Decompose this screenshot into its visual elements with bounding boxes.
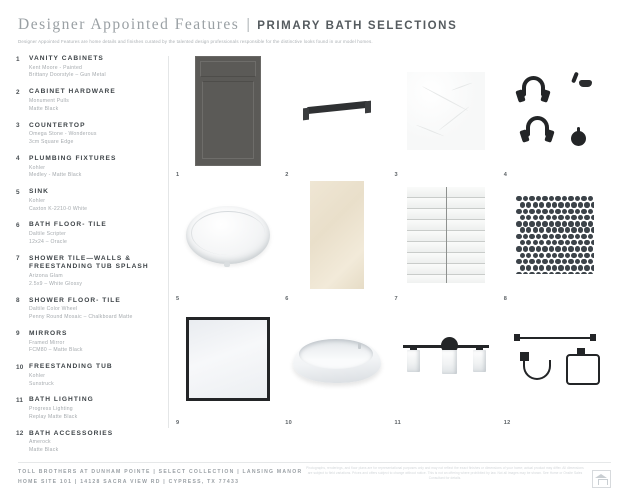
item-detail-2: Matte Black: [29, 106, 156, 112]
product-number: 3: [395, 172, 398, 178]
product-cell-countertop: 3: [395, 56, 504, 180]
product-number: 5: [176, 296, 179, 302]
shower-valve-icon: [571, 131, 586, 146]
product-cell-plumbing: 4: [504, 56, 613, 180]
item-title: CABINET HARDWARE: [29, 88, 156, 97]
item-detail-1: Kohler: [29, 373, 156, 379]
item-detail-2: FCM80 – Matte Black: [29, 347, 156, 353]
list-item: 7 SHOWER TILE—WALLS & FREESTANDING TUB S…: [16, 255, 156, 287]
item-title: MIRRORS: [29, 330, 156, 339]
item-detail-1: Kent Moore - Painted: [29, 65, 156, 71]
toilet-paper-holder-icon: [520, 352, 550, 380]
product-row: 5 6 7 8: [176, 180, 613, 304]
item-title: BATH FLOOR- TILE: [29, 221, 156, 230]
item-detail-2: Brittany Doorstyle – Gun Metal: [29, 72, 156, 78]
item-detail-1: Monument Pulls: [29, 98, 156, 104]
item-detail-1: Daltile Scripter: [29, 231, 156, 237]
item-detail-2: Sunstruck: [29, 381, 156, 387]
community-line-2: HOME SITE 101 | 14128 SACRA VIEW RD | CY…: [18, 478, 302, 488]
list-item: 11 BATH LIGHTING Progress Lighting Repla…: [16, 396, 156, 420]
item-detail-1: Kohler: [29, 165, 156, 171]
item-detail-2: 3cm Square Edge: [29, 139, 156, 145]
cabinet-pull-image: [285, 58, 388, 164]
list-item: 3 COUNTERTOP Omega Stone - Wonderous 3cm…: [16, 122, 156, 146]
community-info: TOLL BROTHERS AT DUNHAM POINTE | SELECT …: [18, 468, 302, 487]
list-item: 2 CABINET HARDWARE Monument Pulls Matte …: [16, 88, 156, 112]
list-item: 4 PLUMBING FIXTURES Kohler Medley - Matt…: [16, 155, 156, 179]
item-title: SHOWER TILE—WALLS & FREESTANDING TUB SPL…: [29, 255, 156, 272]
item-number: 12: [16, 430, 29, 454]
product-number: 9: [176, 420, 179, 426]
product-number: 6: [285, 296, 288, 302]
item-detail-2: 2.5x9 – White Glossy: [29, 281, 156, 287]
item-detail-2: Caxton K-2210-0 White: [29, 206, 156, 212]
product-number: 1: [176, 172, 179, 178]
item-number: 10: [16, 363, 29, 387]
item-title: BATH ACCESSORIES: [29, 430, 156, 439]
title-secondary: PRIMARY BATH SELECTIONS: [257, 20, 457, 32]
item-number: 7: [16, 255, 29, 287]
equal-housing-icon: [592, 470, 611, 488]
item-detail-2: Replay Matte Black: [29, 414, 156, 420]
list-item: 5 SINK Kohler Caxton K-2210-0 White: [16, 188, 156, 212]
item-title: VANITY CABINETS: [29, 55, 156, 64]
item-number: 6: [16, 221, 29, 245]
item-detail-1: Framed Mirror: [29, 340, 156, 346]
item-detail-2: 12x24 – Oracle: [29, 239, 156, 245]
plumbing-fixtures-image: [504, 58, 607, 164]
legal-disclaimer: Photographs, renderings, and floor plans…: [305, 466, 585, 482]
list-item: 8 SHOWER FLOOR- TILE Daltile Color Wheel…: [16, 297, 156, 321]
framed-mirror-image: [176, 306, 279, 412]
item-number: 9: [16, 330, 29, 354]
product-number: 12: [504, 420, 511, 426]
product-row: 1 2 3: [176, 56, 613, 180]
item-number: 4: [16, 155, 29, 179]
item-number: 5: [16, 188, 29, 212]
product-cell-shower-floor-tile: 8: [504, 180, 613, 304]
shower-wall-tile-image: [395, 182, 498, 288]
towel-bar-icon: [514, 334, 596, 341]
item-title: COUNTERTOP: [29, 122, 156, 131]
selections-sheet: Designer Appointed Features | PRIMARY BA…: [0, 0, 621, 480]
product-cell-accessories: 12: [504, 304, 613, 428]
product-cell-lighting: 11: [395, 304, 504, 428]
item-title: SINK: [29, 188, 156, 197]
towel-ring-icon: [566, 348, 596, 382]
item-title: FREESTANDING TUB: [29, 363, 156, 372]
list-item: 9 MIRRORS Framed Mirror FCM80 – Matte Bl…: [16, 330, 156, 354]
list-item: 12 BATH ACCESSORIES Amerock Matte Black: [16, 430, 156, 454]
product-cell-shower-wall-tile: 7: [395, 180, 504, 304]
page-header: Designer Appointed Features | PRIMARY BA…: [18, 16, 609, 44]
title-primary: Designer Appointed Features: [18, 16, 239, 34]
item-title: BATH LIGHTING: [29, 396, 156, 405]
item-title: SHOWER FLOOR- TILE: [29, 297, 156, 306]
undermount-sink-image: [176, 182, 279, 288]
product-number: 4: [504, 172, 507, 178]
product-cell-mirror: 9: [176, 304, 285, 428]
countertop-marble-image: [395, 58, 498, 164]
vertical-divider: [168, 56, 169, 428]
vanity-light-image: [395, 306, 498, 412]
item-number: 8: [16, 297, 29, 321]
product-number: 2: [285, 172, 288, 178]
item-detail-2: Penny Round Mosaic – Chalkboard Matte: [29, 314, 156, 320]
bath-floor-tile-image: [285, 182, 388, 288]
product-cell-bath-floor-tile: 6: [285, 180, 394, 304]
item-detail-1: Amerock: [29, 439, 156, 445]
product-cell-tub: 10: [285, 304, 394, 428]
product-row: 9 10 11: [176, 304, 613, 428]
cabinet-door-image: [176, 58, 279, 164]
item-detail-2: Matte Black: [29, 447, 156, 453]
item-detail-1: Daltile Color Wheel: [29, 306, 156, 312]
community-line-1: TOLL BROTHERS AT DUNHAM POINTE | SELECT …: [18, 468, 302, 478]
product-number: 10: [285, 420, 292, 426]
item-number: 3: [16, 122, 29, 146]
bath-accessories-image: [504, 306, 607, 412]
footer-divider: [18, 462, 611, 463]
product-number: 7: [395, 296, 398, 302]
product-number: 8: [504, 296, 507, 302]
selections-list: 1 VANITY CABINETS Kent Moore - Painted B…: [16, 55, 156, 463]
list-item: 6 BATH FLOOR- TILE Daltile Scripter 12x2…: [16, 221, 156, 245]
list-item: 10 FREESTANDING TUB Kohler Sunstruck: [16, 363, 156, 387]
page-title: Designer Appointed Features | PRIMARY BA…: [18, 16, 609, 34]
shower-head-icon: [572, 72, 592, 88]
freestanding-tub-image: [285, 306, 388, 412]
item-number: 2: [16, 88, 29, 112]
item-number: 1: [16, 55, 29, 79]
product-cell-cabinet: 1: [176, 56, 285, 180]
product-cell-sink: 5: [176, 180, 285, 304]
product-number: 11: [395, 420, 402, 426]
item-number: 11: [16, 396, 29, 420]
item-title: PLUMBING FIXTURES: [29, 155, 156, 164]
item-detail-1: Kohler: [29, 198, 156, 204]
item-detail-1: Progress Lighting: [29, 406, 156, 412]
title-divider: |: [246, 16, 250, 33]
page-subtitle: Designer Appointed Features are home det…: [18, 39, 609, 44]
list-item: 1 VANITY CABINETS Kent Moore - Painted B…: [16, 55, 156, 79]
penny-round-mosaic-image: [504, 182, 607, 288]
product-cell-hardware: 2: [285, 56, 394, 180]
item-detail-2: Medley - Matte Black: [29, 172, 156, 178]
item-detail-1: Arizona Glam: [29, 273, 156, 279]
product-grid: 1 2 3: [176, 56, 613, 428]
item-detail-1: Omega Stone - Wonderous: [29, 131, 156, 137]
